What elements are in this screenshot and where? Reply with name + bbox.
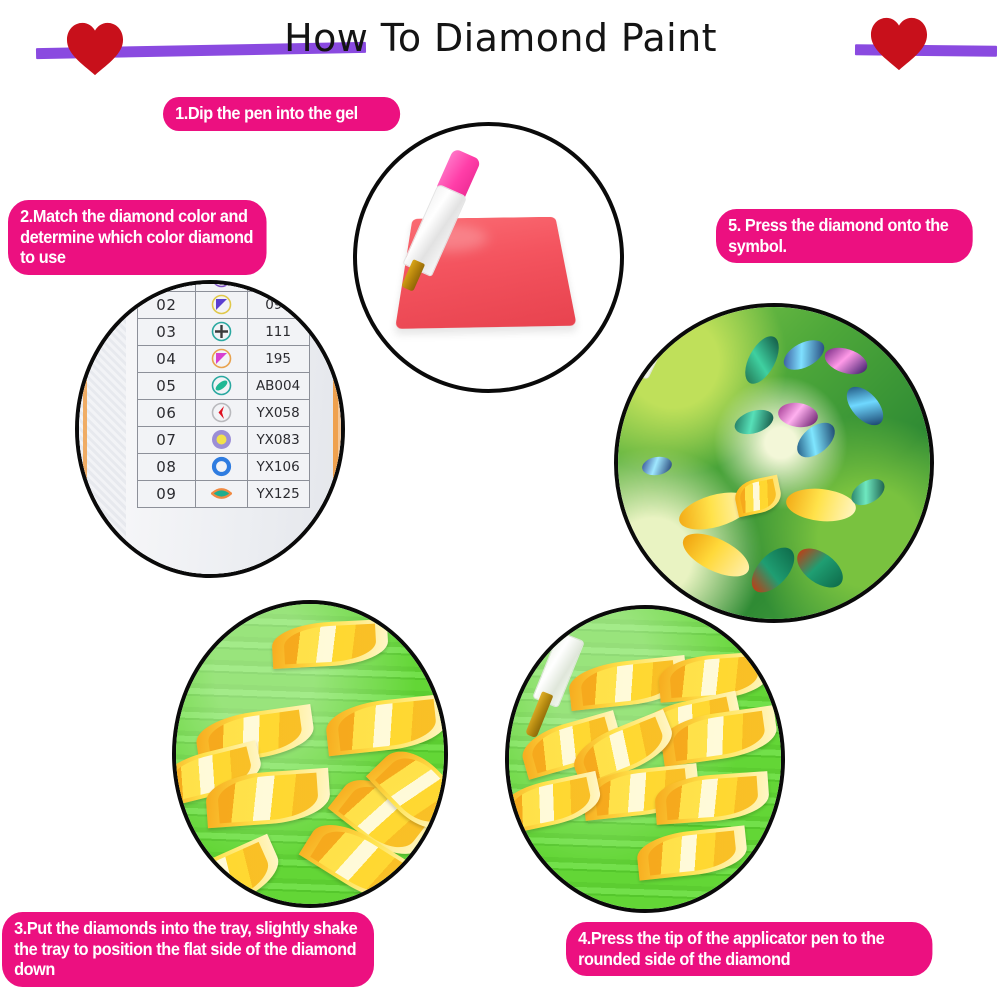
step-4-label: 4.Press the tip of the applicator pen to… bbox=[566, 922, 932, 976]
chart-number: 09 bbox=[137, 480, 195, 507]
leaf-icon bbox=[211, 483, 232, 504]
dot-in-ring-icon bbox=[211, 429, 232, 450]
ring-icon bbox=[211, 456, 232, 477]
chart-number: 03 bbox=[137, 318, 195, 345]
chart-code: YX106 bbox=[247, 453, 309, 480]
chart-symbol bbox=[196, 372, 248, 399]
table-row: 07YX083 bbox=[137, 426, 309, 453]
dots-in-circle-icon bbox=[211, 280, 232, 288]
step-5-label: 5. Press the diamond onto the symbol. bbox=[716, 209, 973, 263]
header: How To Diamond Paint bbox=[0, 0, 1001, 82]
chart-symbol bbox=[196, 280, 248, 291]
step-3-photo bbox=[172, 600, 448, 908]
triangle-icon bbox=[211, 348, 232, 369]
chart-number: 05 bbox=[137, 372, 195, 399]
color-legend-table: 0102802093031110419505AB00406YX05807YX08… bbox=[137, 280, 310, 508]
page-title: How To Diamond Paint bbox=[0, 16, 1001, 60]
plus-icon bbox=[211, 321, 232, 342]
chart-number: 02 bbox=[137, 291, 195, 318]
chart-code: 195 bbox=[247, 345, 309, 372]
step-5-photo bbox=[614, 303, 934, 623]
chart-number: 04 bbox=[137, 345, 195, 372]
chart-number: 08 bbox=[137, 453, 195, 480]
table-row: 03111 bbox=[137, 318, 309, 345]
triangle-icon bbox=[211, 294, 232, 315]
ellipse-slash-icon bbox=[211, 375, 232, 396]
chart-code: YX125 bbox=[247, 480, 309, 507]
infographic-canvas: How To Diamond Paint 1.Dip the pen into … bbox=[0, 0, 1001, 1001]
step-4-photo bbox=[505, 605, 785, 913]
table-row: 01028 bbox=[137, 280, 309, 291]
chart-symbol bbox=[196, 426, 248, 453]
chart-code: YX058 bbox=[247, 399, 309, 426]
table-row: 08YX106 bbox=[137, 453, 309, 480]
table-row: 02093 bbox=[137, 291, 309, 318]
chart-code: 093 bbox=[247, 291, 309, 318]
step-3-label: 3.Put the diamonds into the tray, slight… bbox=[2, 912, 374, 987]
chart-code: 111 bbox=[247, 318, 309, 345]
chart-symbol bbox=[196, 318, 248, 345]
step-2-photo: 0102802093031110419505AB00406YX05807YX08… bbox=[75, 280, 345, 578]
table-row: 06YX058 bbox=[137, 399, 309, 426]
step-2-label: 2.Match the diamond color and determine … bbox=[8, 200, 267, 275]
chart-number: 07 bbox=[137, 426, 195, 453]
table-row: 04195 bbox=[137, 345, 309, 372]
chart-symbol bbox=[196, 399, 248, 426]
chart-code: YX083 bbox=[247, 426, 309, 453]
chart-code: AB004 bbox=[247, 372, 309, 399]
chevron-left-icon bbox=[211, 402, 232, 423]
chart-number: 01 bbox=[137, 280, 195, 291]
chart-symbol bbox=[196, 345, 248, 372]
chart-symbol bbox=[196, 453, 248, 480]
table-row: 05AB004 bbox=[137, 372, 309, 399]
table-row: 09YX125 bbox=[137, 480, 309, 507]
step-1-photo bbox=[353, 122, 624, 393]
chart-symbol bbox=[196, 291, 248, 318]
chart-symbol bbox=[196, 480, 248, 507]
chart-number: 06 bbox=[137, 399, 195, 426]
chart-code: 028 bbox=[247, 280, 309, 291]
